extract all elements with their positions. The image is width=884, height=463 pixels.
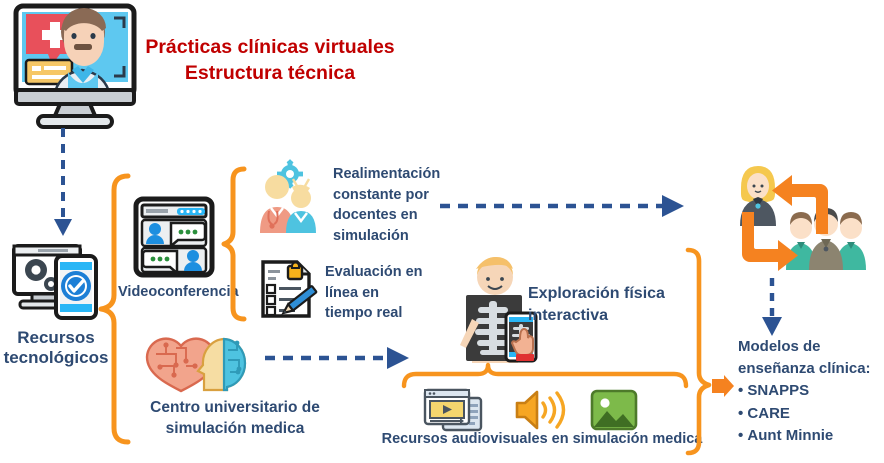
resources-label: Recursos tecnológicos — [0, 328, 112, 368]
teaching-models-bullet-2: • Aunt Minnie — [738, 425, 884, 447]
physical-exam-label: Exploración física interactiva — [528, 283, 688, 327]
dashed-arrow-feedback-to-teacher — [438, 192, 686, 220]
dashed-arrow-simulation-to-exam — [263, 344, 411, 372]
simulation-center-label: Centro universitario de simulación medic… — [122, 398, 348, 440]
videoconference-left-brace — [222, 166, 248, 322]
orange-arrow-to-models — [710, 375, 736, 397]
teachers-gear-icon — [258, 163, 324, 233]
videoconference-window-icon — [133, 196, 215, 278]
audiovisual-label: Recursos audiovisuales en simulación med… — [372, 431, 712, 448]
physical-exam-label-line1: Exploración física — [528, 283, 688, 305]
page-title-line1: Prácticas clínicas virtuales — [140, 34, 400, 60]
video-player-icon — [423, 388, 483, 432]
teaching-models-bullet-label: Aunt Minnie — [747, 427, 833, 444]
simulation-center-label-line1: Centro universitario de — [122, 398, 348, 419]
evaluation-label-line3: tiempo real — [325, 303, 440, 324]
evaluation-label-line1: Evaluación en — [325, 262, 440, 283]
feedback-label-line2: constante por — [333, 185, 453, 206]
dashed-arrow-students-to-models — [755, 276, 789, 338]
feedback-label-line3: docentes en — [333, 205, 453, 226]
heart-brain-circuit-icon — [140, 326, 250, 394]
page-title-line2: Estructura técnica — [140, 60, 400, 86]
bullet-dot: • — [738, 382, 747, 399]
teaching-models-label-line1: Modelos de — [738, 336, 884, 358]
teaching-models-block: Modelos de enseñanza clínica: • SNAPPS •… — [738, 336, 884, 447]
page-title: Prácticas clínicas virtuales Estructura … — [140, 34, 400, 87]
teaching-models-bullet-label: SNAPPS — [747, 382, 809, 399]
physical-exam-label-line2: interactiva — [528, 305, 688, 327]
dashed-arrow-monitor-to-resources — [46, 126, 82, 238]
speaker-sound-icon — [513, 389, 567, 431]
feedback-label-line4: simulación — [333, 226, 453, 247]
audiovisual-up-brace — [400, 362, 688, 388]
evaluation-label: Evaluación en línea en tiempo real — [325, 262, 440, 324]
orange-cycle-arrows — [728, 166, 856, 282]
teaching-models-bullet-1: • CARE — [738, 403, 884, 425]
teaching-models-label-line2: enseñanza clínica: — [738, 358, 884, 380]
videoconference-label: Videoconferencia — [118, 284, 234, 301]
teaching-models-bullet-label: CARE — [747, 405, 790, 422]
resources-label-line2: tecnológicos — [0, 348, 112, 368]
devices-gear-check-icon — [10, 240, 102, 320]
exam-group-right-brace — [684, 246, 714, 446]
bullet-dot: • — [738, 427, 747, 444]
checklist-pencil-icon — [258, 258, 316, 320]
bullet-dot: • — [738, 405, 747, 422]
evaluation-label-line2: línea en — [325, 283, 440, 304]
image-picture-icon — [590, 389, 638, 431]
simulation-center-label-line2: simulación medica — [122, 419, 348, 440]
teaching-models-bullet-0: • SNAPPS — [738, 380, 884, 402]
feedback-label-line1: Realimentación — [333, 164, 453, 185]
feedback-label: Realimentación constante por docentes en… — [333, 164, 453, 246]
resources-label-line1: Recursos — [0, 328, 112, 348]
monitor-doctor-icon — [10, 4, 140, 130]
